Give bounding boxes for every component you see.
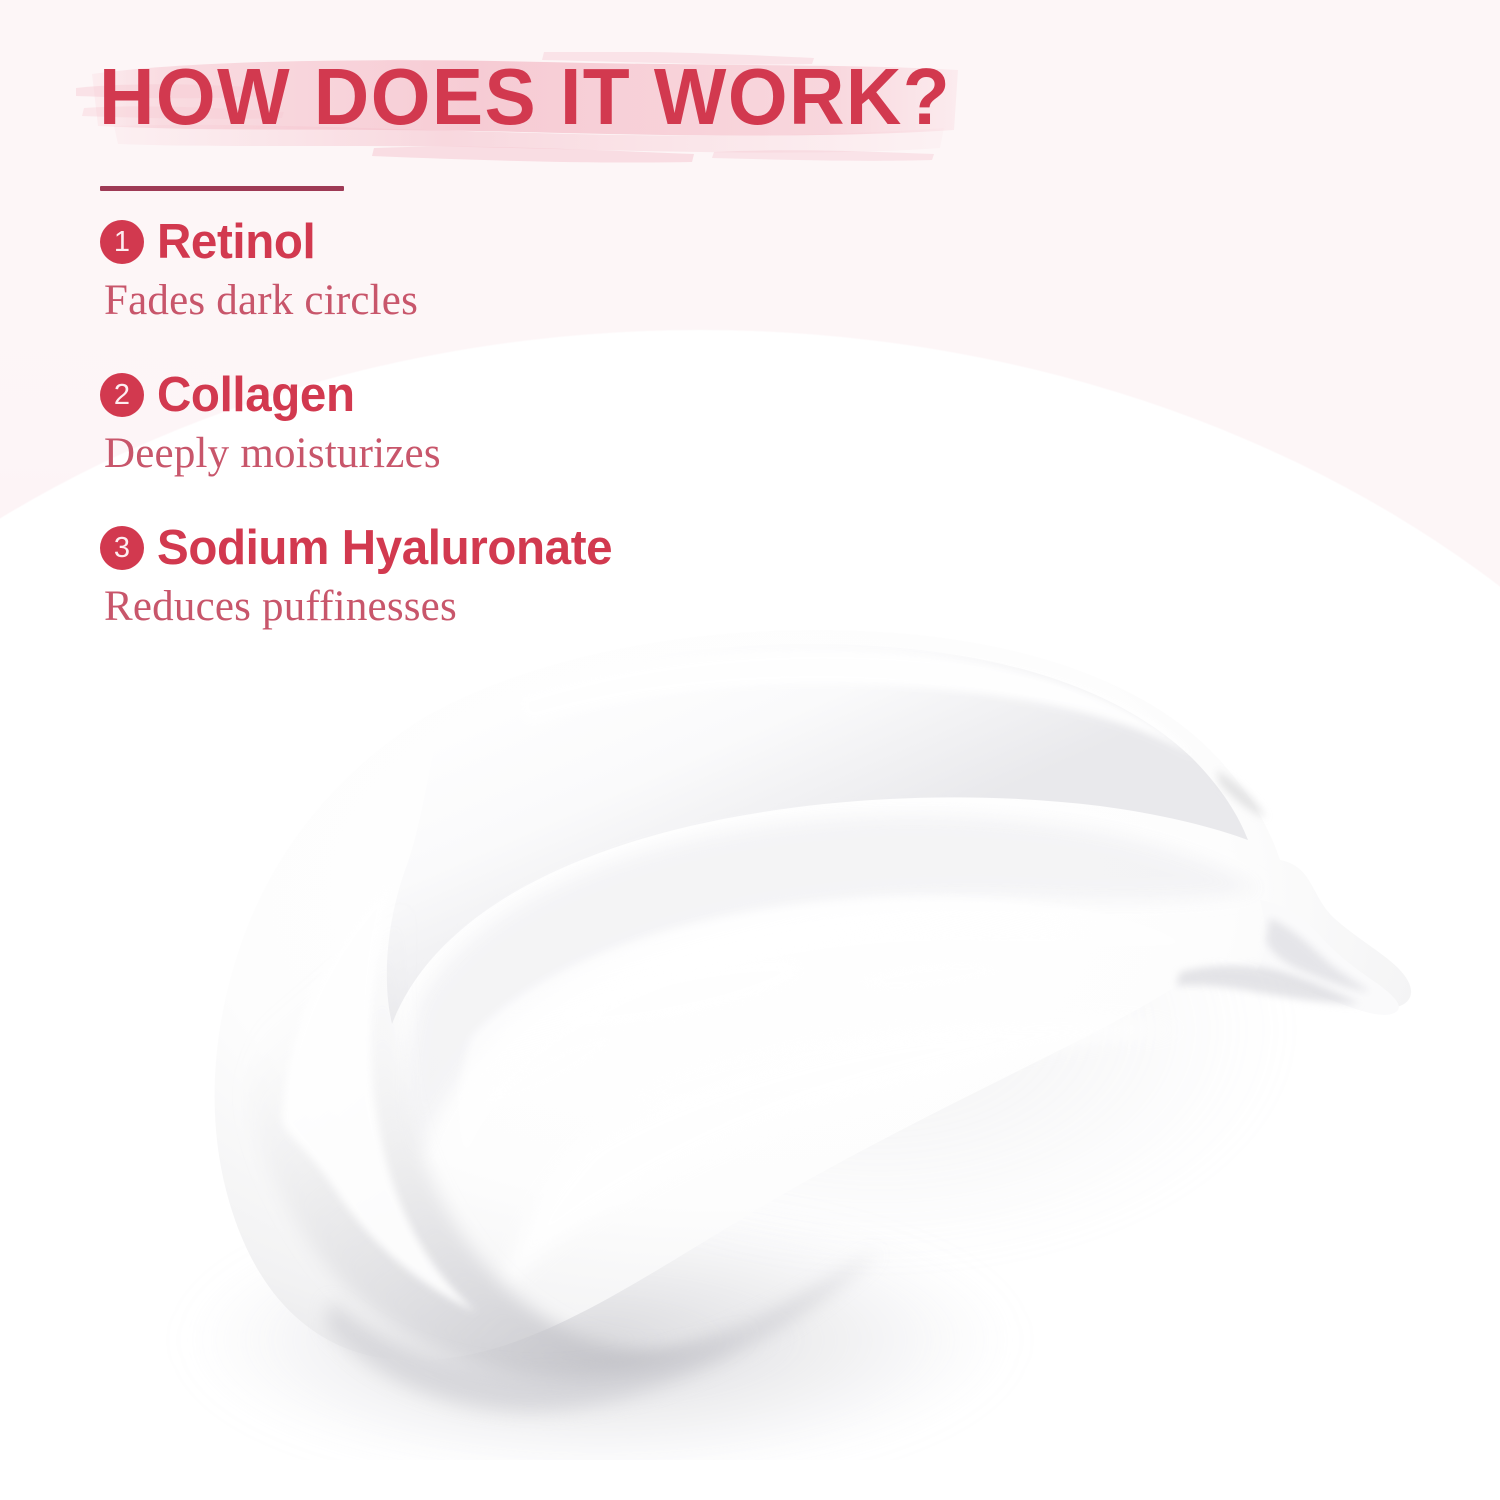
page-title: HOW DOES IT WORK? bbox=[99, 56, 951, 138]
ingredient-heading-row: 2 Collagen bbox=[100, 367, 1100, 423]
list-item: 3 Sodium Hyaluronate Reduces puffinesses bbox=[100, 520, 1100, 631]
ingredient-heading-row: 3 Sodium Hyaluronate bbox=[100, 520, 1100, 576]
step-number-badge-2: 2 bbox=[100, 373, 144, 417]
ingredient-name-2: Collagen bbox=[157, 367, 355, 423]
ingredient-name-1: Retinol bbox=[157, 214, 315, 270]
step-number-badge-1: 1 bbox=[100, 220, 144, 264]
infographic-canvas: HOW DOES IT WORK? 1 Retinol Fades dark c… bbox=[0, 0, 1500, 1500]
ingredient-name-3: Sodium Hyaluronate bbox=[157, 520, 612, 576]
title-divider bbox=[100, 186, 344, 191]
ingredient-benefit-3: Reduces puffinesses bbox=[104, 582, 1100, 631]
list-item: 1 Retinol Fades dark circles bbox=[100, 214, 1100, 325]
step-number-badge-3: 3 bbox=[100, 526, 144, 570]
ingredient-heading-row: 1 Retinol bbox=[100, 214, 1100, 270]
ingredient-benefit-1: Fades dark circles bbox=[104, 276, 1100, 325]
page-title-part-2: IT WORK? bbox=[560, 52, 951, 141]
page-title-part-1: HOW DOES bbox=[99, 52, 560, 141]
list-item: 2 Collagen Deeply moisturizes bbox=[100, 367, 1100, 478]
ingredient-list: 1 Retinol Fades dark circles 2 Collagen … bbox=[100, 214, 1100, 631]
ingredient-benefit-2: Deeply moisturizes bbox=[104, 429, 1100, 478]
